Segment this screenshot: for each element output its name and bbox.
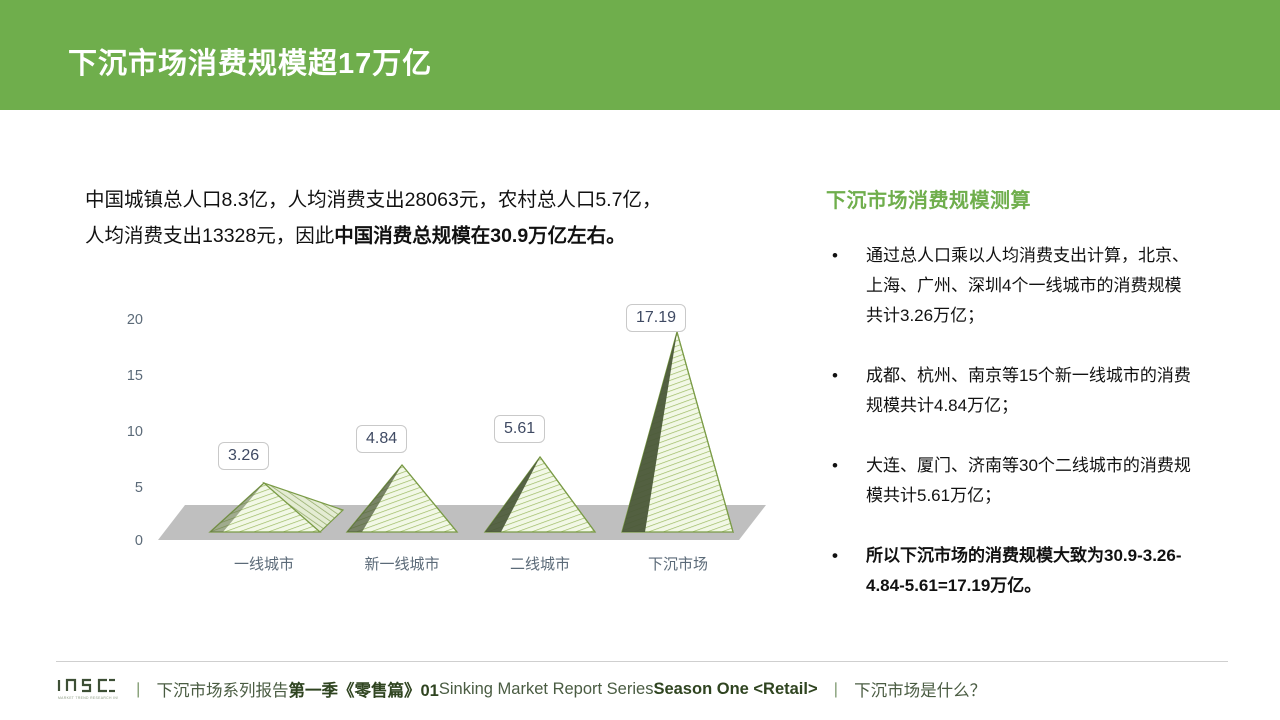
footer-cn-normal: 下沉市场系列报告 [157,677,289,701]
footer-separator-1: 丨 [130,677,147,701]
lead-paragraph: 中国城镇总人口8.3亿，人均消费支出28063元，农村总人口5.7亿， 人均消费… [85,182,745,254]
lead-paragraph-line1: 中国城镇总人口8.3亿，人均消费支出28063元，农村总人口5.7亿， [85,189,661,211]
value-label-1: 3.26 [218,442,269,470]
footer: MARKET TREND RESEARCH INSTITUTE 丨 下沉市场系列… [56,672,1236,706]
analysis-bullet-2: • 成都、杭州、南京等15个新一线城市的消费规模共计4.84万亿； [826,361,1198,421]
footer-en-normal: Sinking Market Report Series [439,680,654,699]
cat-label-2: 新一线城市 [332,553,472,574]
cat-label-1: 一线城市 [194,553,334,574]
chart-x-axis: 一线城市 新一线城市 二线城市 下沉市场 [143,553,783,579]
analysis-bullet-4-text-plain: 所以 [866,546,900,565]
bullet-marker-icon: • [832,451,838,481]
analysis-bullet-3: • 大连、厦门、济南等30个二线城市的消费规模共计5.61万亿； [826,451,1198,511]
slide-root: 下沉市场消费规模超17万亿 中国城镇总人口8.3亿，人均消费支出28063元，农… [0,0,1280,720]
analysis-bullet-1: • 通过总人口乘以人均消费支出计算，北京、上海、广州、深圳4个一线城市的消费规模… [826,241,1198,331]
lead-paragraph-line2-plain: 人均消费支出13328元，因此 [85,225,334,247]
analysis-bullet-4: • 所以下沉市场的消费规模大致为30.9-3.26-4.84-5.61=17.1… [826,541,1198,601]
cat-label-3: 二线城市 [470,553,610,574]
footer-tail: 下沉市场是什么？ [854,677,986,701]
pyramid-chart: 20 15 10 5 0 [85,295,785,585]
footer-separator-2: 丨 [828,677,845,701]
analysis-bullet-3-text: 大连、厦门、济南等30个二线城市的消费规模共计5.61万亿； [866,456,1191,505]
bullet-marker-icon: • [832,541,838,571]
pyramid-bar-4 [622,332,733,532]
value-label-4: 17.19 [626,304,686,332]
cat-label-4: 下沉市场 [608,553,748,574]
chart-canvas [85,295,785,555]
value-label-2: 4.84 [356,425,407,453]
bullet-marker-icon: • [832,241,838,271]
insc-logo-subtext: MARKET TREND RESEARCH INSTITUTE [58,696,118,700]
analysis-panel: 下沉市场消费规模测算 • 通过总人口乘以人均消费支出计算，北京、上海、广州、深圳… [826,184,1198,631]
pyramid-bar-3 [485,457,595,532]
insc-logo-icon: MARKET TREND RESEARCH INSTITUTE [56,676,118,702]
pyramid-bar-2 [347,465,457,532]
footer-divider [56,661,1228,662]
page-title: 下沉市场消费规模超17万亿 [68,40,432,82]
footer-en-bold: Season One <Retail> [653,680,817,699]
analysis-heading: 下沉市场消费规模测算 [826,184,1198,213]
value-label-3: 5.61 [494,415,545,443]
footer-cn-bold: 第一季《零售篇》01 [289,677,439,701]
bullet-marker-icon: • [832,361,838,391]
analysis-bullet-2-text: 成都、杭州、南京等15个新一线城市的消费规模共计4.84万亿； [866,366,1191,415]
analysis-bullet-4-text-bold: 下沉市场的消费规模大致为30.9-3.26-4.84-5.61=17.19万亿。 [866,546,1182,595]
analysis-bullet-1-text: 通过总人口乘以人均消费支出计算，北京、上海、广州、深圳4个一线城市的消费规模共计… [866,246,1189,325]
lead-paragraph-line2-bold: 中国消费总规模在30.9万亿左右。 [334,225,625,247]
